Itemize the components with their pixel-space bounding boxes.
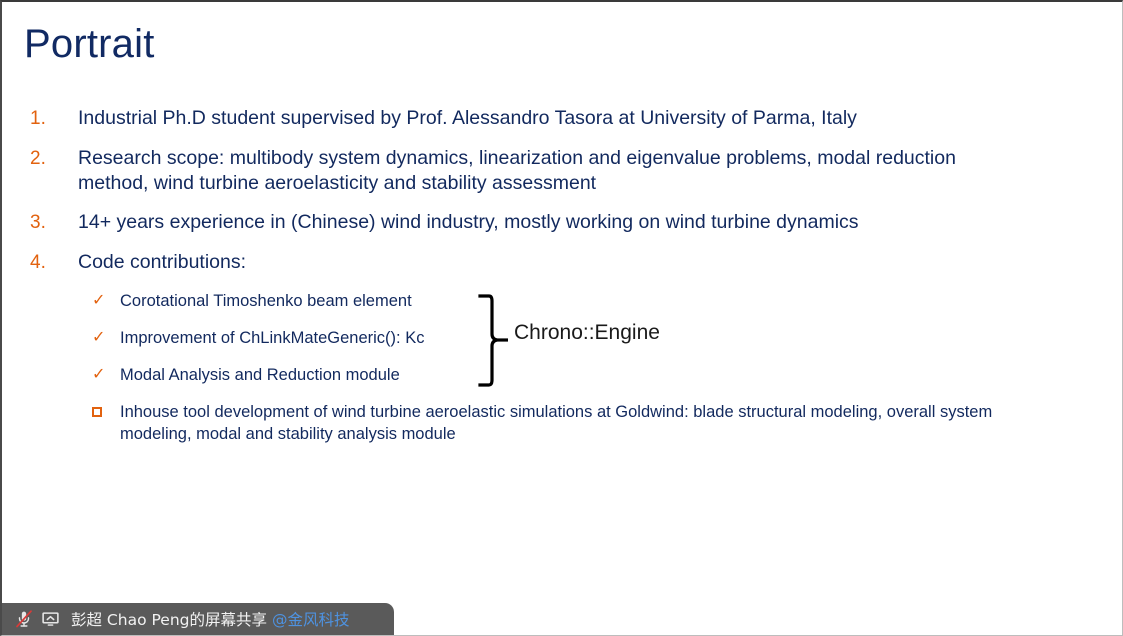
share-status-text: 彭超 Chao Peng的屏幕共享 — [71, 608, 267, 630]
list-item-text: Industrial Ph.D student supervised by Pr… — [78, 106, 1080, 131]
brace-label: Chrono::Engine — [514, 321, 660, 345]
screen-share-status-bar: 彭超 Chao Peng的屏幕共享 @金风科技 — [2, 603, 394, 635]
list-item-marker: 2. — [30, 146, 78, 172]
list-item: 4. Code contributions: — [30, 250, 1080, 276]
numbered-list: 1. Industrial Ph.D student supervised by… — [30, 106, 1080, 290]
list-item: 1. Industrial Ph.D student supervised by… — [30, 106, 1080, 132]
list-item-marker: 3. — [30, 210, 78, 236]
list-item-text: Research scope: multibody system dynamic… — [78, 146, 983, 196]
share-status-handle: @金风科技 — [272, 608, 350, 630]
square-bullet-icon — [92, 401, 120, 424]
list-item-text: Code contributions: — [78, 250, 1080, 275]
check-icon: ✓ — [92, 364, 120, 386]
screen-share-icon[interactable] — [37, 607, 63, 631]
list-item-marker: 4. — [30, 250, 78, 276]
list-item-text: Inhouse tool development of wind turbine… — [120, 401, 1010, 445]
microphone-muted-icon[interactable] — [11, 607, 37, 631]
page-title: Portrait — [24, 24, 155, 64]
list-item: 3. 14+ years experience in (Chinese) win… — [30, 210, 1080, 236]
brace-annotation: Chrono::Engine — [472, 293, 712, 388]
list-item-marker: 1. — [30, 106, 78, 132]
check-icon: ✓ — [92, 327, 120, 349]
check-icon: ✓ — [92, 290, 120, 312]
list-item: Inhouse tool development of wind turbine… — [92, 401, 1072, 445]
slide-screen: Portrait 1. Industrial Ph.D student supe… — [0, 0, 1123, 636]
list-item-text: 14+ years experience in (Chinese) wind i… — [78, 210, 1080, 235]
list-item: 2. Research scope: multibody system dyna… — [30, 146, 1080, 196]
